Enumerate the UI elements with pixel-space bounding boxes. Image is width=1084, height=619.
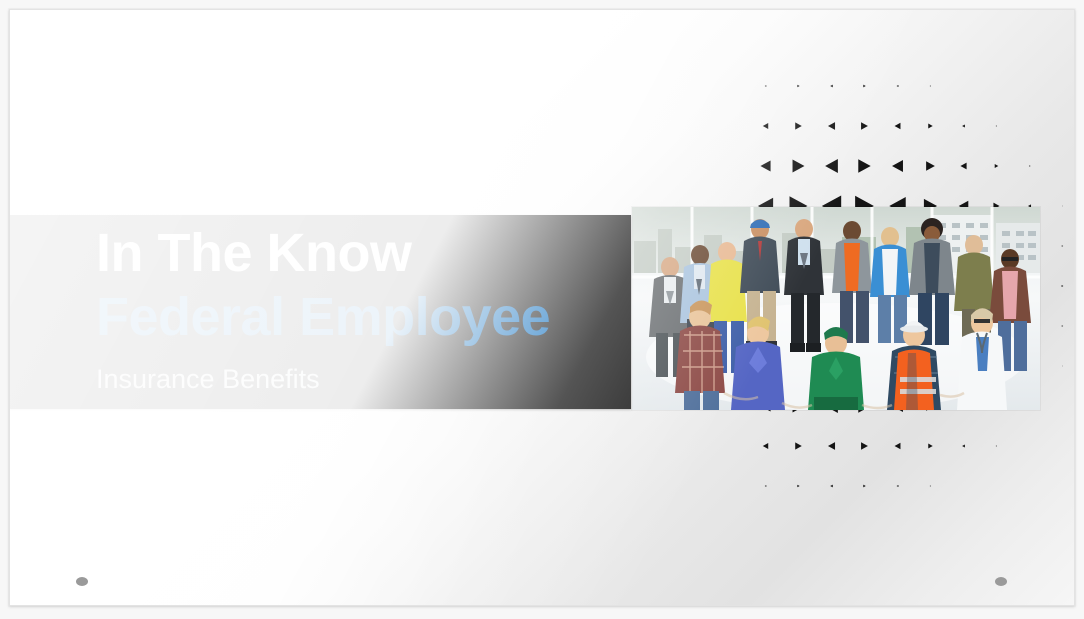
page-subtitle: Insurance Benefits [96, 361, 621, 397]
slide-canvas[interactable]: In The Know Federal Employee Insurance B… [9, 9, 1075, 606]
page-title-line-1: In The Know [96, 221, 621, 285]
slide-viewer: In The Know Federal Employee Insurance B… [0, 0, 1084, 619]
resize-handle-left[interactable] [76, 577, 88, 586]
title-text-stack: In The Know Federal Employee Insurance B… [96, 221, 621, 397]
hero-photo [632, 207, 1040, 410]
title-band[interactable]: In The Know Federal Employee Insurance B… [10, 215, 631, 409]
page-title-line-2: Federal Employee [96, 285, 621, 349]
resize-handle-right[interactable] [995, 577, 1007, 586]
